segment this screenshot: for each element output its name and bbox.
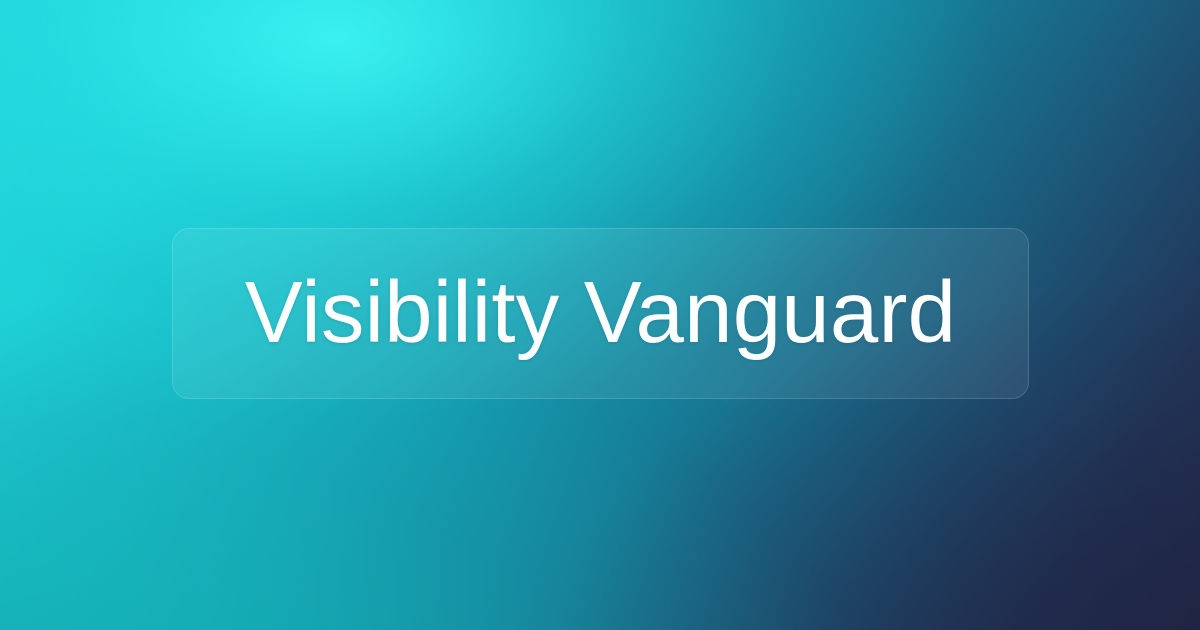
title-card: Visibility Vanguard [172,228,1029,399]
preview-canvas: Visibility Vanguard [0,0,1200,630]
page-title: Visibility Vanguard [245,269,956,356]
